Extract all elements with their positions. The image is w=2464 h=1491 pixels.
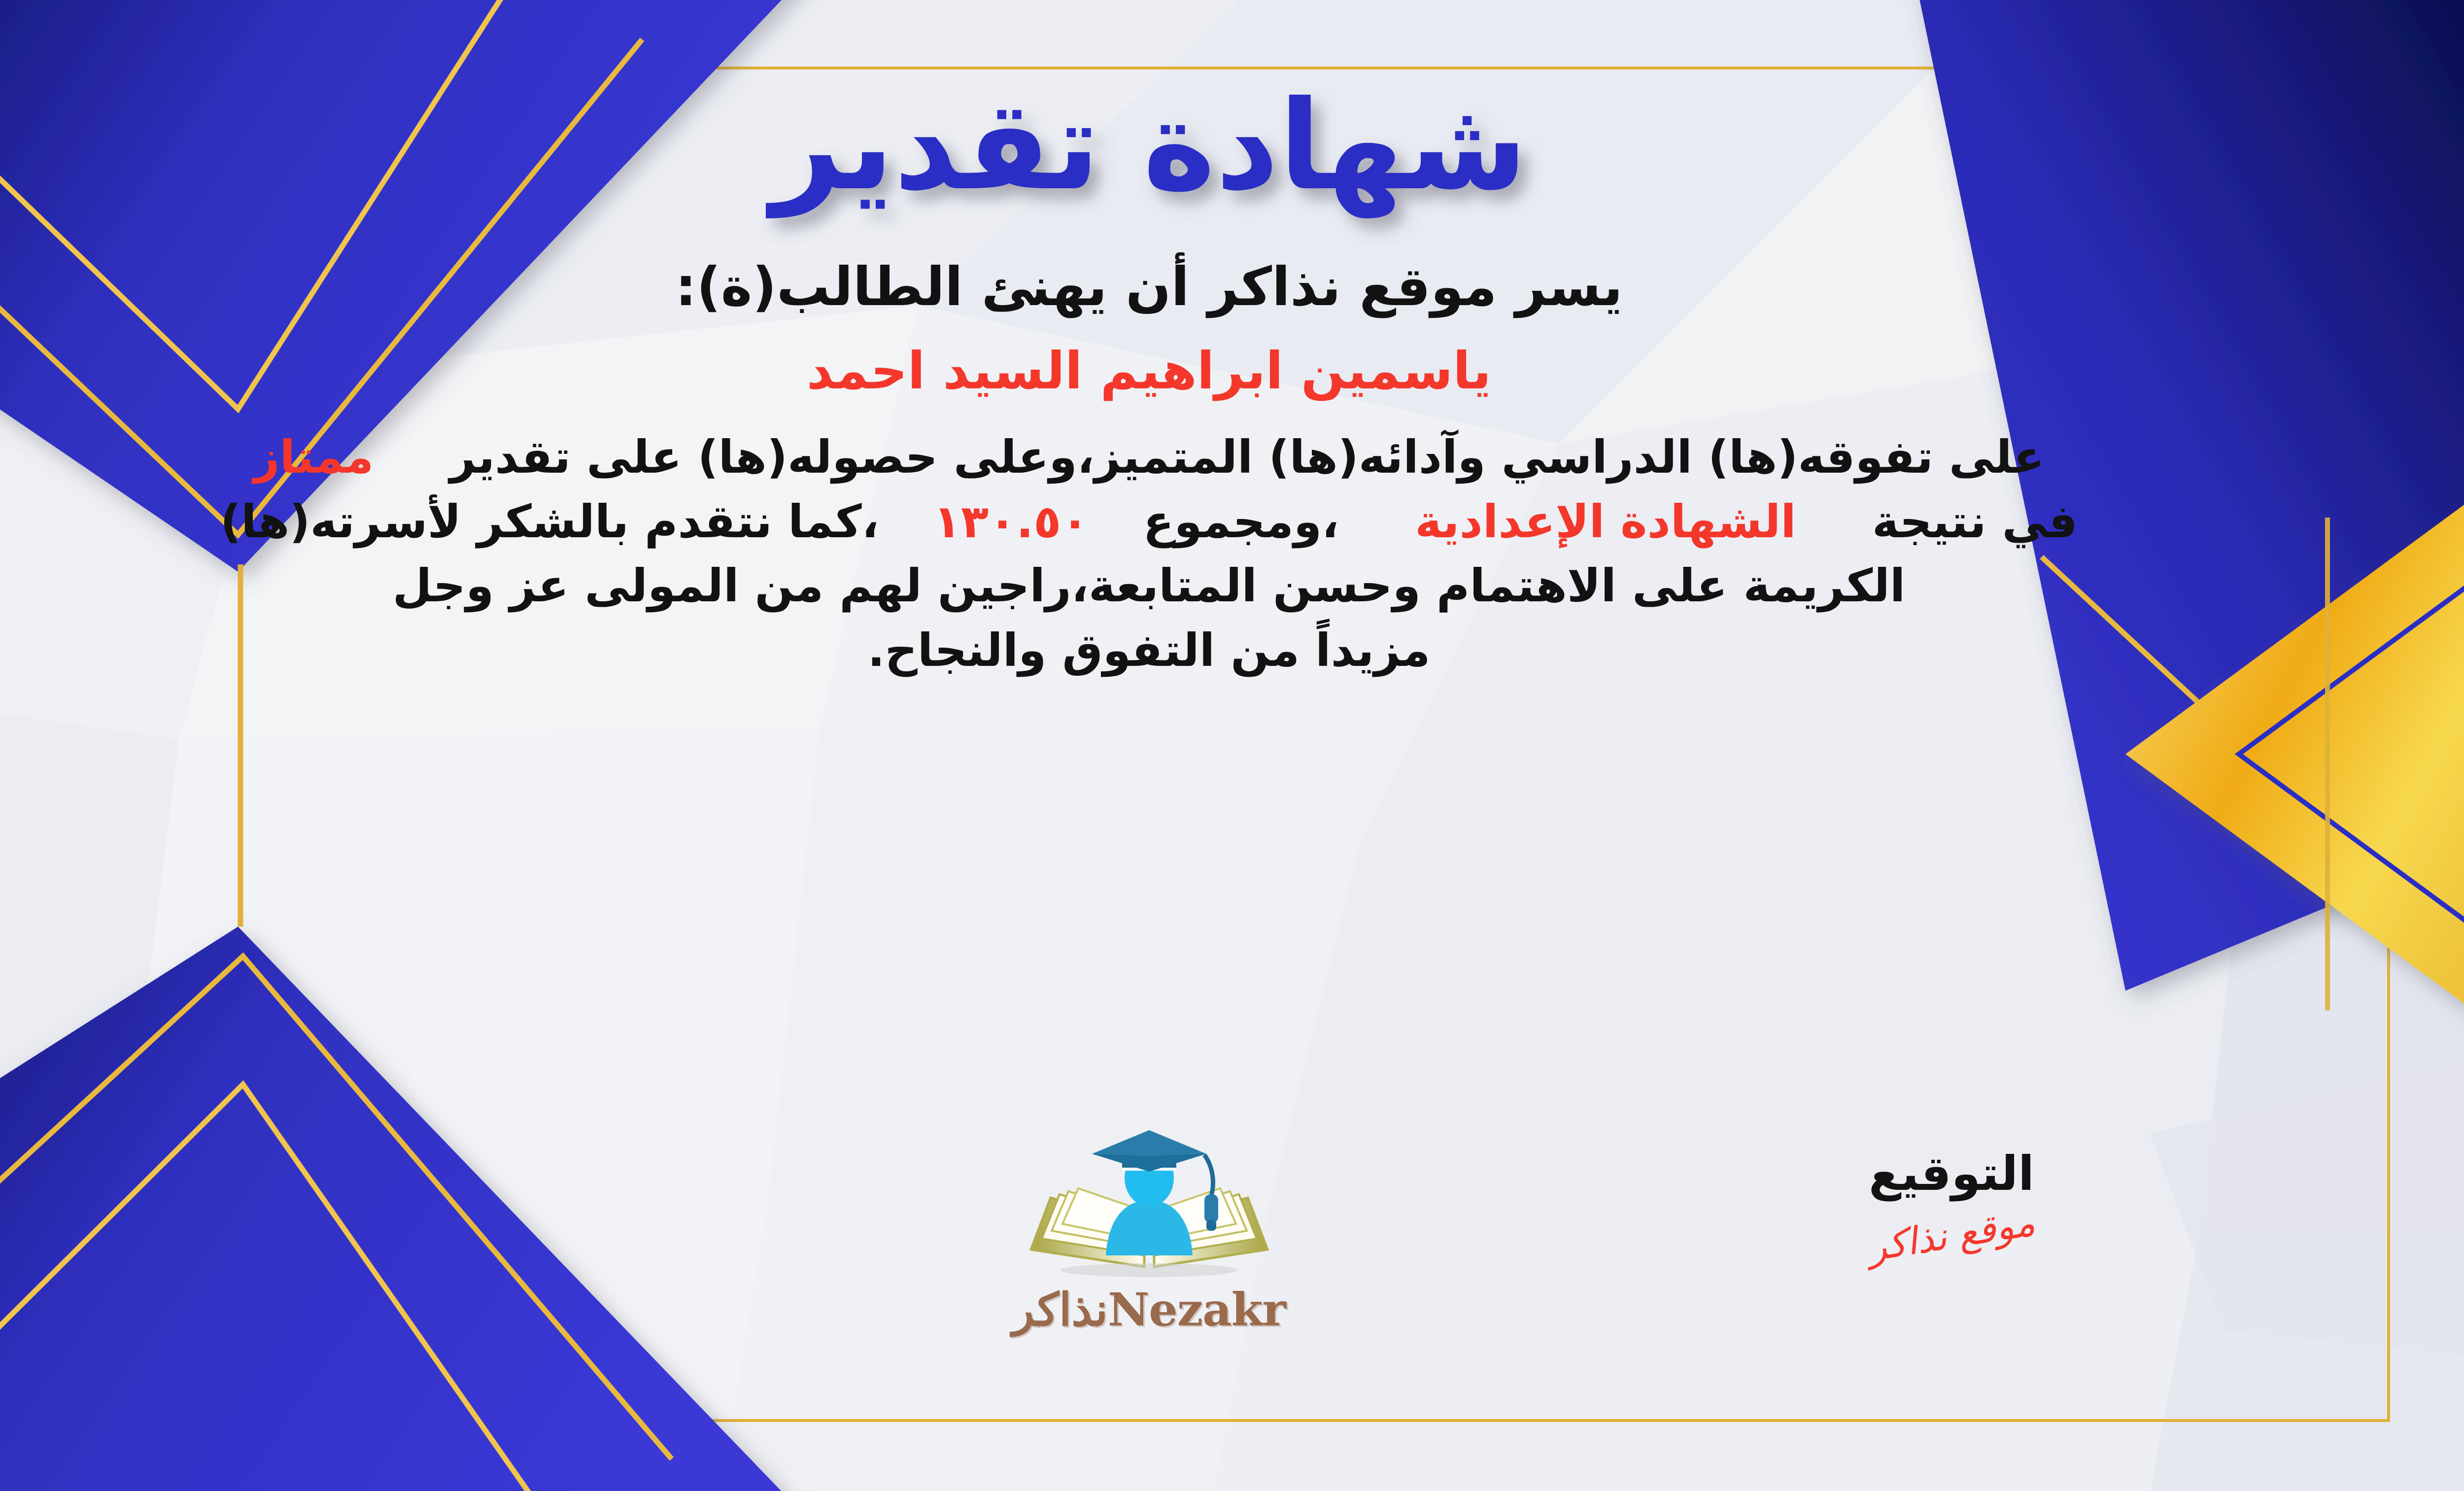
body-line-1-text: على تفوقه(ها) الدراسي وآدائه(ها) المتميز… bbox=[449, 431, 2044, 484]
body-line-4: مزيداً من التفوق والنجاح. bbox=[0, 619, 2312, 683]
logo-wordmark-arabic: نذاكر bbox=[1012, 1283, 1108, 1336]
greeting-line: يسر موقع نذاكر أن يهنئ الطالب(ة): bbox=[675, 256, 1623, 318]
certificate-footer: التوقيع موقع نذاكر bbox=[0, 1141, 2464, 1417]
student-name: ياسمين ابراهيم السيد احمد bbox=[807, 341, 1491, 401]
result-prefix: في نتيجة bbox=[1872, 495, 2078, 548]
grade-value: ممتاز bbox=[254, 431, 374, 484]
logo-wordmark-latin: Nezakr bbox=[1108, 1283, 1286, 1336]
graduate-open-book-icon bbox=[1021, 1126, 1277, 1289]
site-logo: Nezakrنذاكر bbox=[0, 1126, 2464, 1336]
thanks-prefix: ،كما نتقدم بالشكر لأسرته(ها) bbox=[220, 495, 879, 548]
logo-wordmark: Nezakrنذاكر bbox=[1012, 1283, 1286, 1336]
certificate-title: شهادة تقدير bbox=[0, 59, 2464, 246]
certificate-body: على تفوقه(ها) الدراسي وآدائه(ها) المتميز… bbox=[0, 425, 2312, 683]
title-text: شهادة تقدير bbox=[765, 74, 1527, 219]
title-calligraphy: شهادة تقدير bbox=[607, 59, 1691, 246]
body-line-2: في نتيجة الشهادة الإعدادية ،ومجموع ١٣٠.٥… bbox=[0, 490, 2312, 555]
body-line-1: على تفوقه(ها) الدراسي وآدائه(ها) المتميز… bbox=[0, 425, 2312, 490]
total-score: ١٣٠.٥٠ bbox=[933, 495, 1089, 548]
exam-name: الشهادة الإعدادية bbox=[1415, 495, 1796, 548]
total-prefix: ،ومجموع bbox=[1143, 495, 1339, 548]
body-line-3: الكريمة على الاهتمام وحسن المتابعة،راجين… bbox=[0, 554, 2312, 619]
